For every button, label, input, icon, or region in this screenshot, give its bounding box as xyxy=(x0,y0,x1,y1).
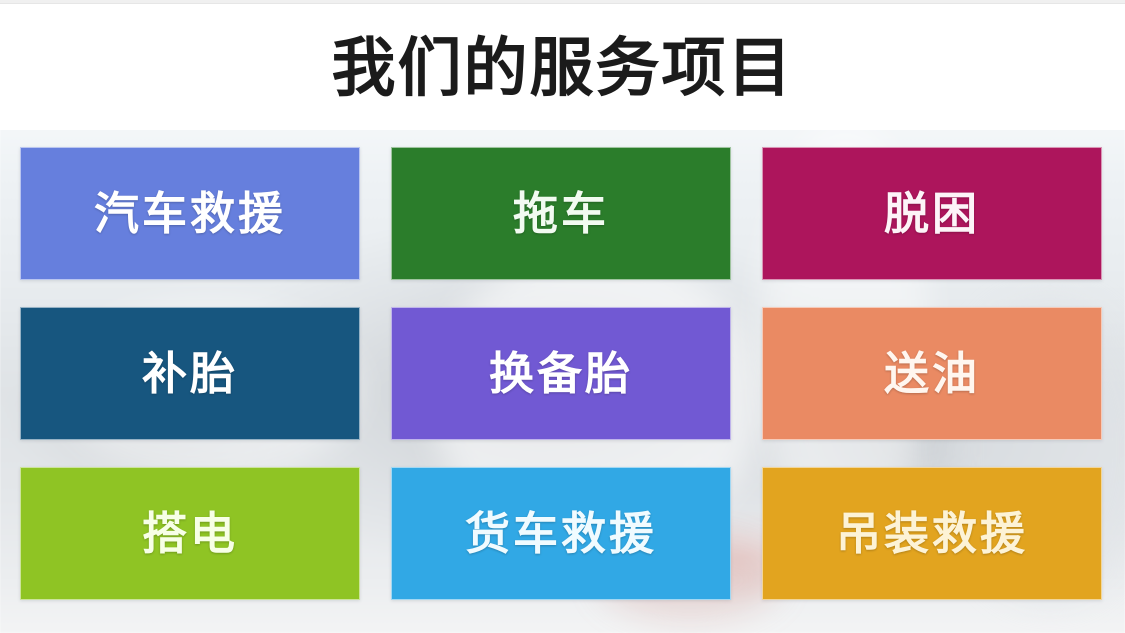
service-tile-tire-repair[interactable]: 补胎 xyxy=(20,307,360,440)
title-band: 我们的服务项目 xyxy=(0,0,1125,130)
service-tile-label: 搭电 xyxy=(142,511,238,556)
service-tile-crane-lifting-rescue[interactable]: 吊装救援 xyxy=(762,467,1102,600)
service-tile-label: 送油 xyxy=(884,351,980,396)
service-tile-label: 汽车救援 xyxy=(94,191,286,236)
service-tile-label: 补胎 xyxy=(142,351,238,396)
service-tile-label: 换备胎 xyxy=(489,351,633,396)
service-tile-grid: 汽车救援 拖车 脱困 补胎 换备胎 送油 搭电 货车救援 吊装救援 xyxy=(20,147,1102,600)
service-tile-label: 货车救援 xyxy=(465,511,657,556)
top-divider xyxy=(0,0,1125,4)
service-tile-towing[interactable]: 拖车 xyxy=(391,147,731,280)
service-tile-car-rescue[interactable]: 汽车救援 xyxy=(20,147,360,280)
service-tile-spare-tire-change[interactable]: 换备胎 xyxy=(391,307,731,440)
service-tile-jump-start[interactable]: 搭电 xyxy=(20,467,360,600)
service-tile-extrication[interactable]: 脱困 xyxy=(762,147,1102,280)
page-title: 我们的服务项目 xyxy=(332,30,794,100)
service-tile-fuel-delivery[interactable]: 送油 xyxy=(762,307,1102,440)
service-tile-label: 吊装救援 xyxy=(836,511,1028,556)
service-items-poster: 我们的服务项目 汽车救援 拖车 脱困 补胎 换备胎 送油 搭电 货车救援 吊装救… xyxy=(0,0,1125,633)
service-tile-truck-rescue[interactable]: 货车救援 xyxy=(391,467,731,600)
service-tile-label: 脱困 xyxy=(884,191,980,236)
service-tile-label: 拖车 xyxy=(513,191,609,236)
